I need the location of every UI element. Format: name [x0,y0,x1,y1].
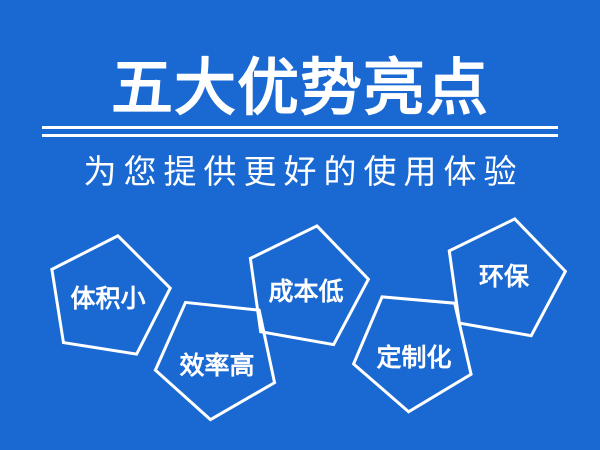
feature-badge-group: 体积小效率高成本低定制化环保 [0,0,600,450]
feature-badge-label: 成本低 [268,272,343,308]
feature-badge-label: 环保 [479,257,529,293]
promo-poster: 五大优势亮点 为您提供更好的使用体验 体积小效率高成本低定制化环保 [0,0,600,450]
feature-badge-label: 体积小 [70,279,145,315]
